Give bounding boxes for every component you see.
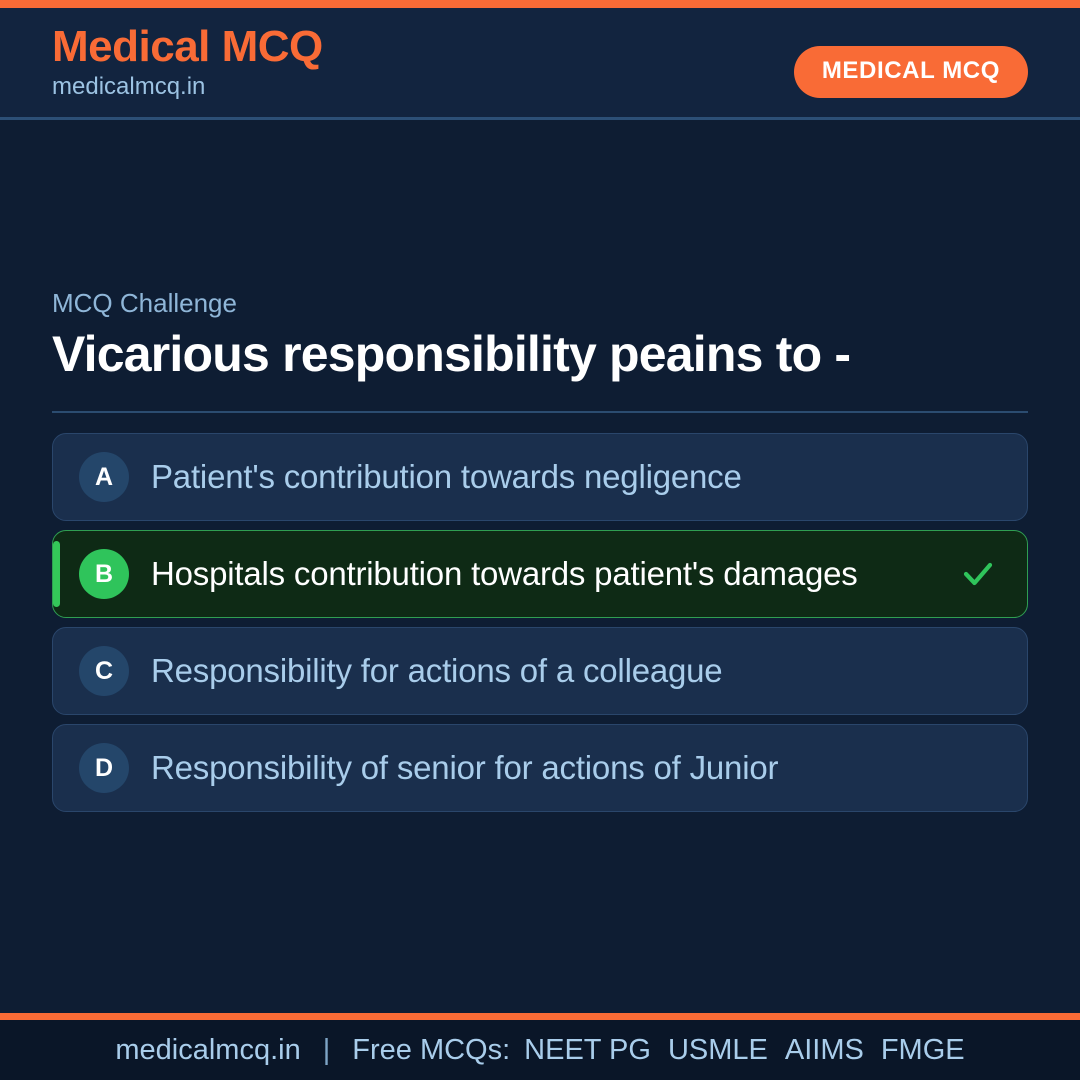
page-footer: medicalmcq.in | Free MCQs: NEET PG USMLE… — [0, 1020, 1080, 1080]
page-header: Medical MCQ medicalmcq.in MEDICAL MCQ — [0, 8, 1080, 120]
footer-tag-neetpg: NEET PG — [524, 1034, 651, 1067]
footer-separator: | — [315, 1034, 339, 1067]
correct-accent-bar — [53, 541, 60, 607]
question-text: Vicarious responsibility peains to - — [52, 327, 1028, 381]
option-b[interactable]: B Hospitals contribution towards patient… — [52, 530, 1028, 618]
option-a[interactable]: A Patient's contribution towards neglige… — [52, 433, 1028, 521]
option-d-text: Responsibility of senior for actions of … — [151, 750, 778, 786]
main-content: MCQ Challenge Vicarious responsibility p… — [52, 288, 1028, 812]
check-icon — [959, 555, 997, 593]
header-badge: MEDICAL MCQ — [794, 46, 1028, 98]
option-c[interactable]: C Responsibility for actions of a collea… — [52, 627, 1028, 715]
option-d[interactable]: D Responsibility of senior for actions o… — [52, 724, 1028, 812]
brand-subtitle: medicalmcq.in — [52, 73, 323, 102]
brand-title: Medical MCQ — [52, 22, 323, 71]
footer-tags: NEET PG USMLE AIIMS FMGE — [524, 1034, 964, 1067]
eyebrow-label: MCQ Challenge — [52, 288, 1028, 319]
footer-tag-aiims: AIIMS — [785, 1034, 864, 1067]
footer-content: medicalmcq.in | Free MCQs: NEET PG USMLE… — [115, 1034, 964, 1067]
footer-tag-fmge: FMGE — [881, 1034, 965, 1067]
option-b-letter: B — [79, 549, 129, 599]
footer-accent-bar — [0, 1013, 1080, 1020]
option-d-letter: D — [79, 743, 129, 793]
title-divider — [52, 411, 1028, 413]
option-c-letter: C — [79, 646, 129, 696]
footer-label: Free MCQs: — [352, 1034, 510, 1067]
option-b-text: Hospitals contribution towards patient's… — [151, 556, 858, 592]
brand: Medical MCQ medicalmcq.in — [52, 22, 323, 102]
options-list: A Patient's contribution towards neglige… — [52, 433, 1028, 812]
option-c-text: Responsibility for actions of a colleagu… — [151, 653, 722, 689]
footer-tag-usmle: USMLE — [668, 1034, 768, 1067]
top-accent-bar — [0, 0, 1080, 8]
option-a-letter: A — [79, 452, 129, 502]
option-a-text: Patient's contribution towards negligenc… — [151, 459, 742, 495]
footer-site: medicalmcq.in — [115, 1034, 300, 1067]
